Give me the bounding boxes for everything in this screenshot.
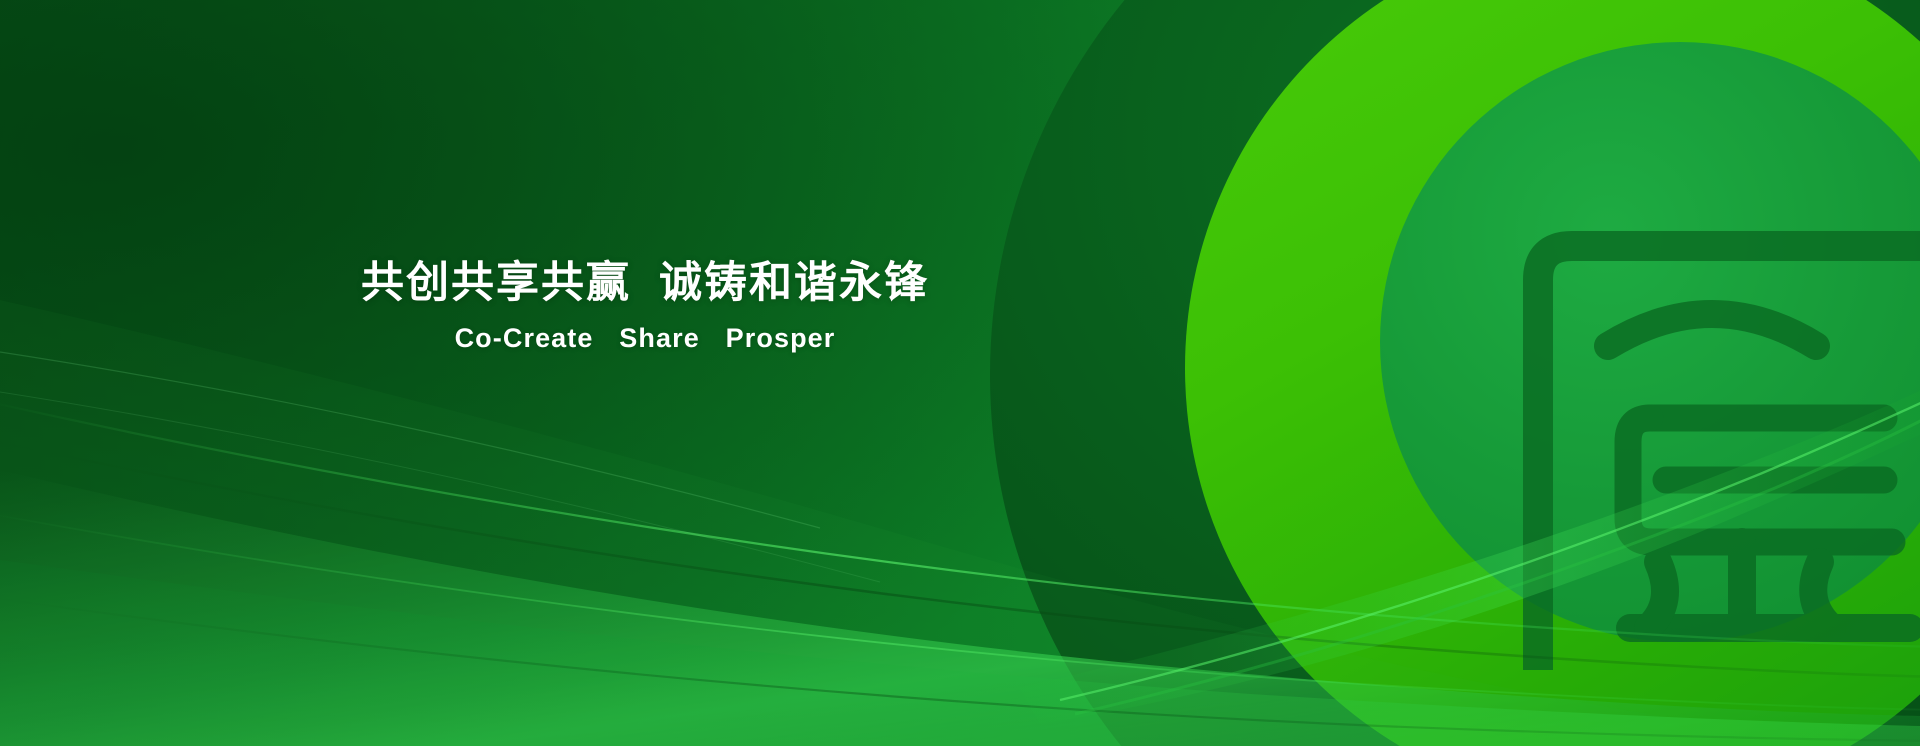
headline-block: 共创共享共赢 诚铸和谐永锋 Co-Create Share Prosper bbox=[0, 258, 1290, 354]
banner-subtitle-english: Co-Create Share Prosper bbox=[0, 323, 1290, 354]
hero-banner: 共创共享共赢 诚铸和谐永锋 Co-Create Share Prosper bbox=[0, 0, 1920, 746]
banner-title-chinese: 共创共享共赢 诚铸和谐永锋 bbox=[0, 258, 1290, 309]
